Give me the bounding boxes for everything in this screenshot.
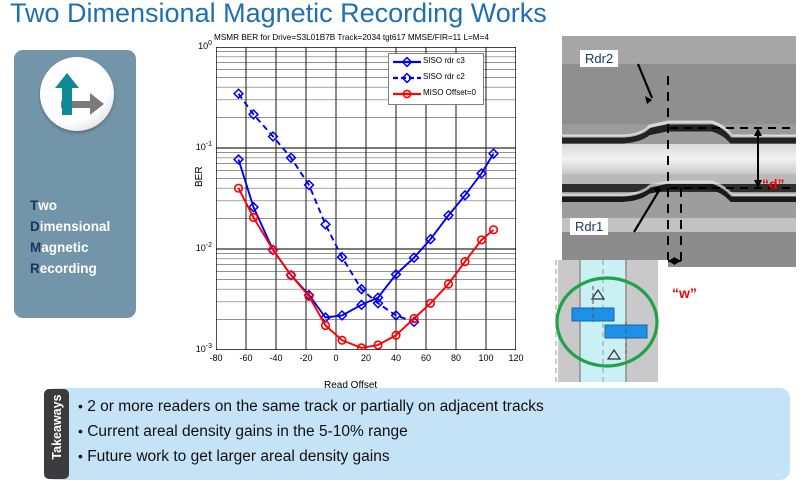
acronym-initial-d: D [30,219,40,234]
page-title: Two Dimensional Magnetic Recording Works [10,0,750,32]
chart-x-tick: 20 [351,353,381,363]
chart-x-tick: -80 [201,353,231,363]
mfm-photo: Rdr2 Rdr1 “d” [562,36,796,267]
acronym-rest-two: wo [38,198,57,213]
chart-legend-label: SISO rdr c3 [423,56,465,65]
chart-legend: SISO rdr c3SISO rdr c2MISO Offset=0 [388,53,484,105]
left-side-panel: Two Dimensional Magnetic Recording [14,50,136,318]
chart-y-tick: 100 [182,40,212,51]
acronym-initial-m: M [30,240,41,255]
ber-chart: MSMR BER for Drive=S3L01B7B Track=2034 t… [186,33,546,381]
acronym-initial-t: T [30,198,38,213]
chart-y-axis-label: BER [194,166,205,187]
acronym-line-dimensional: Dimensional [30,216,136,237]
chart-legend-swatch [391,70,423,86]
track-reader-graphic [548,260,668,382]
chart-x-tick: 120 [501,353,531,363]
logo-badge [40,57,114,131]
chart-x-tick: 0 [321,353,351,363]
acronym-line-two: Two [30,195,136,216]
acronym-rest-magnetic: agnetic [41,240,88,255]
acronym-line-magnetic: Magnetic [30,237,136,258]
chart-legend-swatch [391,54,423,70]
acronym-rest-dimensional: imensional [40,219,111,234]
takeaway-bullet: • 2 or more readers on the same track or… [78,398,544,416]
chart-legend-swatch [391,86,423,102]
chart-legend-label: SISO rdr c2 [423,72,465,81]
bullet-marker: • [78,398,83,414]
chart-legend-item: MISO Offset=0 [389,86,483,102]
acronym-list: Two Dimensional Magnetic Recording [30,195,136,279]
chart-x-tick: 80 [441,353,471,363]
label-d-dimension: “d” [762,176,785,192]
takeaway-bullet: • Current areal density gains in the 5-1… [78,423,408,441]
acronym-rest-recording: ecording [40,261,97,276]
chart-title: MSMR BER for Drive=S3L01B7B Track=2034 t… [214,33,554,42]
chart-plot-area: BER Read Offset 10010-110-210-3 -80-60-4… [216,47,516,350]
label-rdr1: Rdr1 [570,218,608,235]
bullet-marker: • [78,448,83,464]
takeaway-bullet: • Future work to get larger areal densit… [78,448,390,466]
chart-x-tick: -20 [291,353,321,363]
bullet-marker: • [78,423,83,439]
chart-x-tick: 100 [471,353,501,363]
up-arrow-right-arrow-logo-icon [40,57,114,131]
chart-x-tick: -40 [261,353,291,363]
takeaways-tab: Takeaways [44,389,69,479]
chart-y-tick: 10-1 [182,141,212,152]
takeaways-tab-label: Takeaways [50,382,64,472]
chart-x-tick: 60 [411,353,441,363]
chart-legend-label: MISO Offset=0 [423,88,476,97]
chart-x-tick: 40 [381,353,411,363]
chart-legend-item: SISO rdr c2 [389,70,483,86]
chart-legend-item: SISO rdr c3 [389,54,483,70]
label-rdr2: Rdr2 [580,50,618,67]
chart-y-tick: 10-2 [182,242,212,253]
track-reader-diagram [548,260,668,382]
chart-x-tick: -60 [231,353,261,363]
acronym-initial-r: R [30,261,40,276]
label-w-dimension: “w” [672,285,697,301]
acronym-line-recording: Recording [30,258,136,279]
